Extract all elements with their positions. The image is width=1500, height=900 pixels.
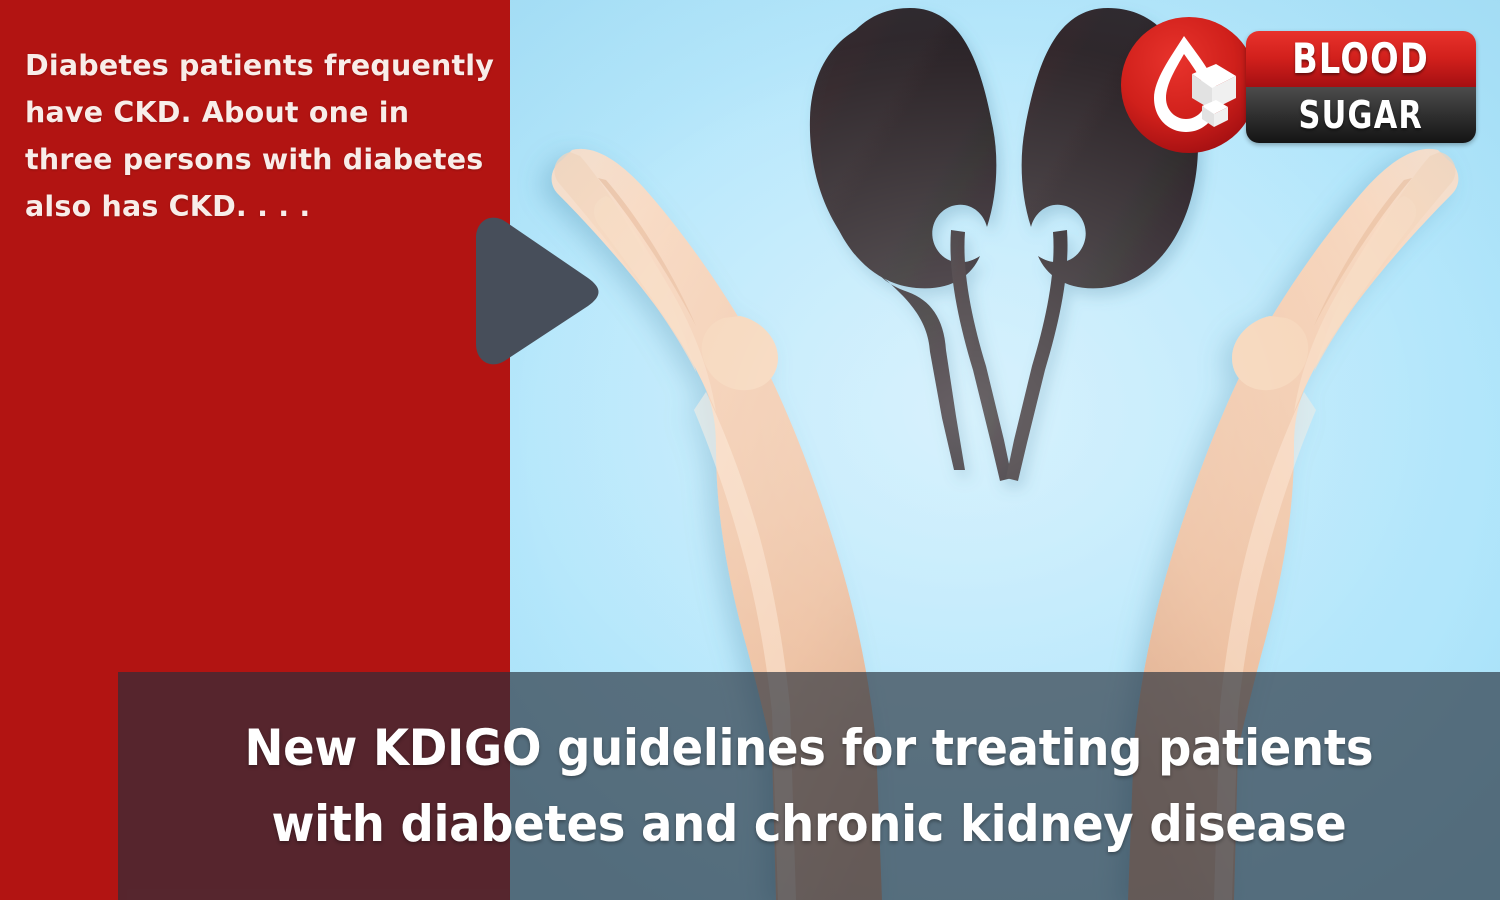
headline-line-2: with diabetes and chronic kidney disease — [272, 786, 1347, 862]
logo-word-sugar: SUGAR — [1299, 96, 1423, 134]
logo-badge-top: BLOOD — [1246, 31, 1476, 87]
article-hero-banner: Diabetes patients frequently have CKD. A… — [0, 0, 1500, 900]
blood-drop-sugar-cube-icon — [1118, 14, 1260, 156]
play-icon — [462, 212, 602, 370]
logo-badge: BLOOD SUGAR — [1246, 31, 1476, 143]
logo-badge-bottom: SUGAR — [1246, 87, 1476, 143]
headline-overlay-bar: New KDIGO guidelines for treating patien… — [118, 672, 1500, 900]
play-triangle-button[interactable] — [462, 212, 602, 370]
headline-line-1: New KDIGO guidelines for treating patien… — [245, 710, 1374, 786]
callout-text: Diabetes patients frequently have CKD. A… — [25, 42, 495, 230]
blood-sugar-logo: BLOOD SUGAR — [1118, 14, 1478, 158]
logo-word-blood: BLOOD — [1293, 38, 1430, 80]
